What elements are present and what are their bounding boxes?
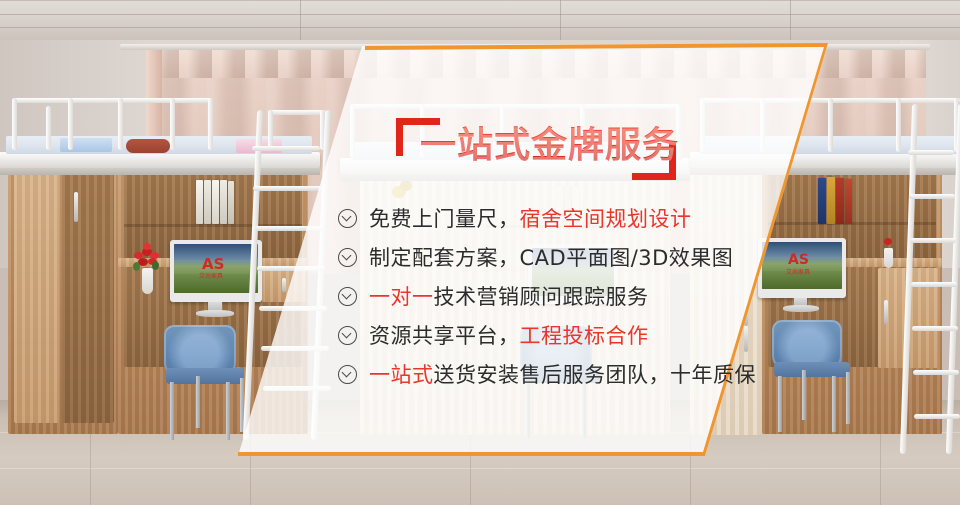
- page-title: 一站式金牌服务: [420, 116, 679, 168]
- chevron-down-circle-icon: [338, 248, 357, 267]
- service-feature-item: 免费上门量尺，宿舍空间规划设计: [338, 200, 756, 236]
- chevron-down-circle-icon: [338, 326, 357, 345]
- service-feature-item: 制定配套方案，CAD平面图/3D效果图: [338, 239, 756, 275]
- highlighted-text: 宿舍空间规划设计: [520, 207, 692, 231]
- banner-stage: AS 艾尚家具: [0, 0, 960, 505]
- service-feature-item: 一站式送货安装售后服务团队，十年质保: [338, 356, 756, 392]
- plain-text: 制定配套方案，CAD平面图/3D效果图: [369, 246, 733, 270]
- service-feature-list: 免费上门量尺，宿舍空间规划设计制定配套方案，CAD平面图/3D效果图一对一技术营…: [338, 200, 756, 395]
- highlighted-text: 一站式: [369, 363, 434, 387]
- service-feature-label: 一对一技术营销顾问跟踪服务: [369, 281, 649, 311]
- plain-text: 送货安装售后服务团队，十年质保: [434, 363, 757, 387]
- plain-text: 技术营销顾问跟踪服务: [434, 285, 649, 309]
- chevron-down-circle-icon: [338, 287, 357, 306]
- plain-text: 免费上门量尺，: [369, 207, 520, 231]
- highlighted-text: 一对一: [369, 285, 434, 309]
- service-feature-label: 制定配套方案，CAD平面图/3D效果图: [369, 242, 733, 272]
- service-feature-label: 免费上门量尺，宿舍空间规划设计: [369, 203, 692, 233]
- service-feature-label: 一站式送货安装售后服务团队，十年质保: [369, 359, 756, 389]
- highlighted-text: 工程投标合作: [520, 324, 649, 348]
- plain-text: 资源共享平台，: [369, 324, 520, 348]
- title-block: 一站式金牌服务: [396, 118, 676, 180]
- bracket-top-left-vertical: [396, 118, 403, 156]
- chevron-down-circle-icon: [338, 365, 357, 384]
- banner-content: 一站式金牌服务 免费上门量尺，宿舍空间规划设计制定配套方案，CAD平面图/3D效…: [0, 0, 960, 505]
- service-feature-item: 一对一技术营销顾问跟踪服务: [338, 278, 756, 314]
- service-feature-label: 资源共享平台，工程投标合作: [369, 320, 649, 350]
- service-feature-item: 资源共享平台，工程投标合作: [338, 317, 756, 353]
- chevron-down-circle-icon: [338, 209, 357, 228]
